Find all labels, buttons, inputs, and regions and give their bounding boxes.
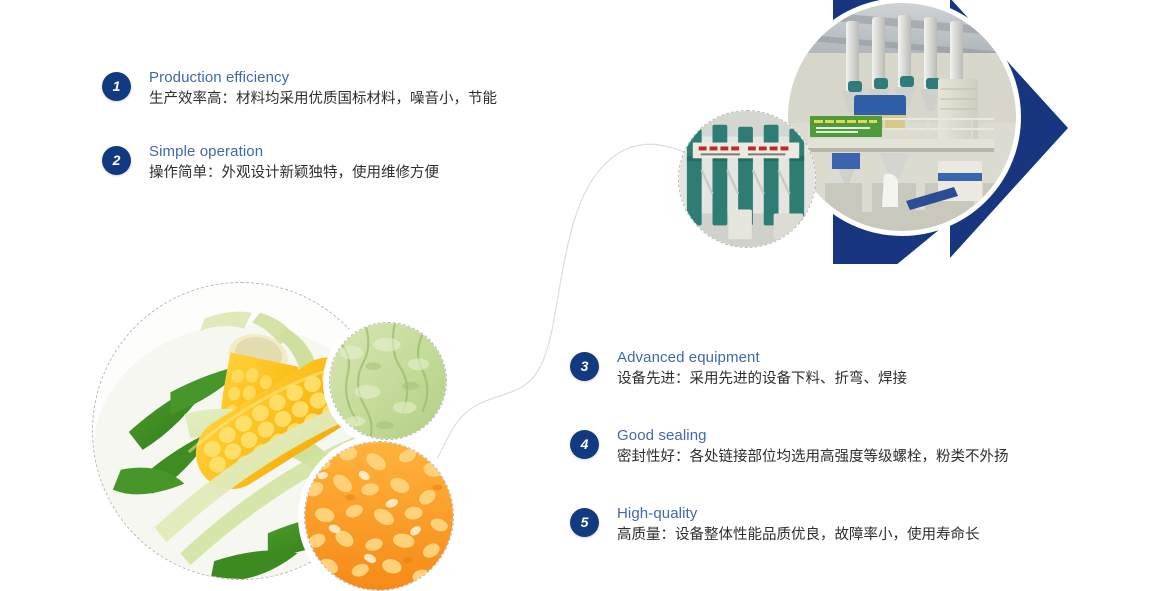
feature-badge-3: 3 bbox=[570, 352, 599, 381]
feature-title-3: Advanced equipment bbox=[617, 348, 907, 367]
feature-desc-5: 高质量：设备整体性能品质优良，故障率小，使用寿命长 bbox=[617, 525, 980, 546]
feature-item-4[interactable]: 4 Good sealing 密封性好：各处链接部位均选用高强度等级螺栓，粉类不… bbox=[570, 426, 1090, 472]
feature-badge-5: 5 bbox=[570, 508, 599, 537]
feature-desc-3: 设备先进：采用先进的设备下料、折弯、焊接 bbox=[617, 369, 907, 390]
feature-text-2: Simple operation 操作简单：外观设计新颖独特，使用维修方便 bbox=[149, 142, 439, 184]
feature-item-5[interactable]: 5 High-quality 高质量：设备整体性能品质优良，故障率小，使用寿命长 bbox=[570, 504, 1090, 550]
corn-kernels-photo bbox=[304, 441, 454, 591]
feature-desc-1: 生产效率高：材料均采用优质国标材料，噪音小，节能 bbox=[149, 89, 497, 110]
feature-text-3: Advanced equipment 设备先进：采用先进的设备下料、折弯、焊接 bbox=[617, 348, 907, 390]
feature-title-2: Simple operation bbox=[149, 142, 439, 161]
feature-text-1: Production efficiency 生产效率高：材料均采用优质国标材料，… bbox=[149, 68, 497, 110]
feature-title-1: Production efficiency bbox=[149, 68, 497, 87]
infographic-canvas: 1 Production efficiency 生产效率高：材料均采用优质国标材… bbox=[0, 0, 1154, 591]
factory-photo-cluster bbox=[660, 0, 1154, 292]
feature-desc-4: 密封性好：各处链接部位均选用高强度等级螺栓，粉类不外扬 bbox=[617, 447, 1009, 468]
factory-main-photo bbox=[783, 0, 1021, 236]
feature-desc-2: 操作简单：外观设计新颖独特，使用维修方便 bbox=[149, 163, 439, 184]
corn-paste-photo bbox=[329, 322, 447, 440]
feature-text-4: Good sealing 密封性好：各处链接部位均选用高强度等级螺栓，粉类不外扬 bbox=[617, 426, 1009, 468]
feature-title-5: High-quality bbox=[617, 504, 980, 523]
feature-badge-4: 4 bbox=[570, 430, 599, 459]
feature-list-top-left: 1 Production efficiency 生产效率高：材料均采用优质国标材… bbox=[102, 68, 572, 216]
feature-item-2[interactable]: 2 Simple operation 操作简单：外观设计新颖独特，使用维修方便 bbox=[102, 142, 572, 188]
feature-item-1[interactable]: 1 Production efficiency 生产效率高：材料均采用优质国标材… bbox=[102, 68, 572, 114]
feature-list-bottom-right: 3 Advanced equipment 设备先进：采用先进的设备下料、折弯、焊… bbox=[570, 348, 1090, 582]
feature-badge-2: 2 bbox=[102, 146, 131, 175]
feature-text-5: High-quality 高质量：设备整体性能品质优良，故障率小，使用寿命长 bbox=[617, 504, 980, 546]
corn-photo-cluster bbox=[92, 282, 492, 591]
feature-item-3[interactable]: 3 Advanced equipment 设备先进：采用先进的设备下料、折弯、焊… bbox=[570, 348, 1090, 394]
factory-small-photo bbox=[678, 110, 816, 248]
feature-badge-1: 1 bbox=[102, 72, 131, 101]
feature-title-4: Good sealing bbox=[617, 426, 1009, 445]
